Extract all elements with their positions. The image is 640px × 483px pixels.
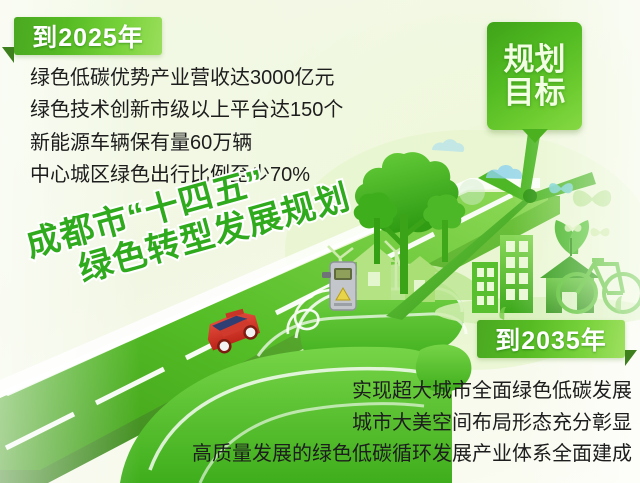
goal-badge-pointer	[522, 129, 548, 143]
bullet-2035-1: 实现超大城市全面绿色低碳发展	[132, 376, 632, 408]
bullets-2035: 实现超大城市全面绿色低碳发展 城市大美空间布局形态充分彰显 高质量发展的绿色低碳…	[132, 376, 632, 471]
bullet-2035-2: 城市大美空间布局形态充分彰显	[132, 408, 632, 440]
bullet-2035-3: 高质量发展的绿色低碳循环发展产业体系全面建成	[132, 439, 632, 471]
banner-2035: 到2035年	[477, 320, 625, 358]
planning-goal-badge: 规划 目标	[487, 22, 582, 130]
banner-2035-fold	[625, 350, 637, 366]
infographic-poster: 到2025年 绿色低碳优势产业营收达3000亿元 绿色技术创新市级以上平台达15…	[0, 0, 640, 483]
goal-badge-line2: 目标	[504, 76, 566, 109]
bullet-2025-2: 绿色技术创新市级以上平台达150个	[30, 94, 390, 126]
goal-badge-line1: 规划	[504, 43, 566, 76]
banner-2035-label: 到2035年	[495, 321, 607, 357]
banner-2025-label: 到2025年	[32, 18, 144, 54]
bullet-2025-3: 新能源车辆保有量60万辆	[30, 127, 390, 159]
banner-2025: 到2025年	[14, 17, 162, 55]
bullet-2025-4: 中心城区绿色出行比例至少70%	[30, 159, 390, 191]
banner-2025-fold	[2, 47, 14, 63]
bullets-2025: 绿色低碳优势产业营收达3000亿元 绿色技术创新市级以上平台达150个 新能源车…	[30, 62, 390, 192]
bullet-2025-1: 绿色低碳优势产业营收达3000亿元	[30, 62, 390, 94]
